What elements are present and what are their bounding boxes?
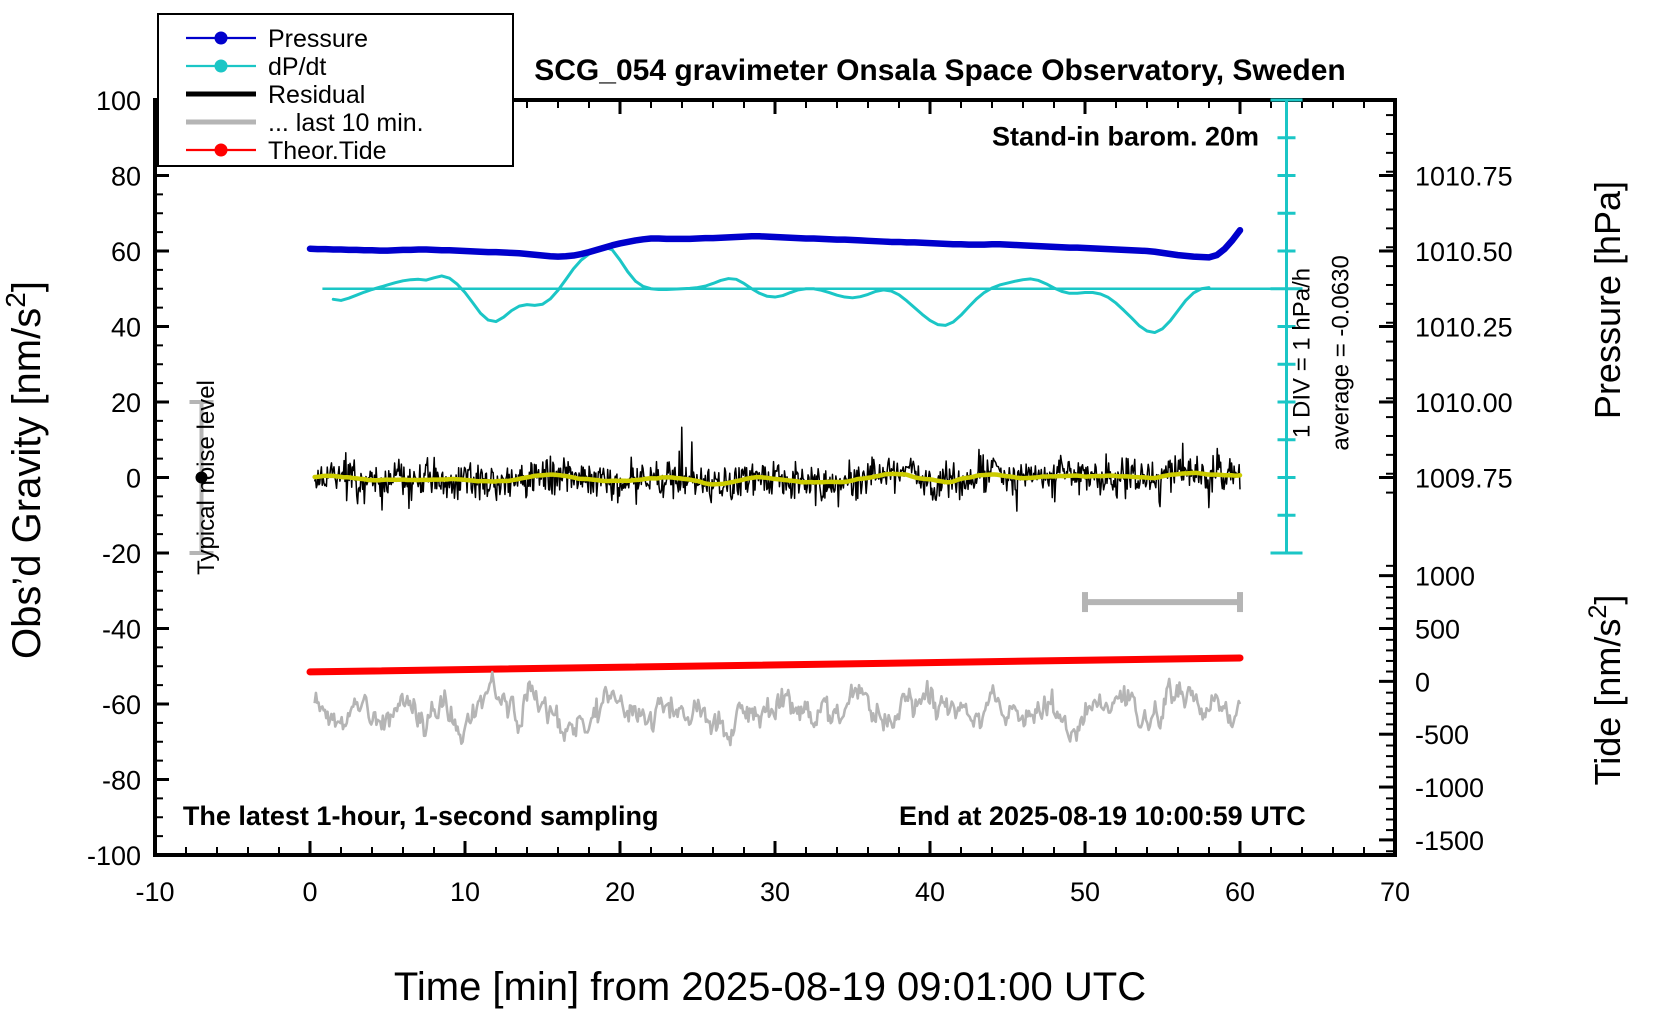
tide-tick-label: -1500: [1415, 826, 1484, 856]
y-tick-label: -80: [102, 766, 141, 796]
y-axis-title-tide: Tide [nm/s2]: [1584, 595, 1628, 786]
legend-swatch-marker: [215, 60, 228, 73]
x-tick-label: -10: [135, 877, 174, 907]
pressure-tick-label: 1010.25: [1415, 313, 1513, 343]
y-axis-title-pressure: Pressure [hPa]: [1587, 181, 1628, 419]
x-tick-label: 40: [915, 877, 945, 907]
x-tick-label: 70: [1380, 877, 1410, 907]
legend-item-label: ... last 10 min.: [268, 109, 424, 137]
y-tick-label: -60: [102, 690, 141, 720]
pressure-tick-label: 1010.00: [1415, 388, 1513, 418]
tide-tick-label: -1000: [1415, 773, 1484, 803]
y-tick-label: -100: [87, 841, 141, 871]
legend-swatch-marker: [215, 144, 228, 157]
annotation-typical-noise-level: Typical noise level: [193, 380, 220, 575]
legend-item-label: dP/dt: [268, 53, 326, 81]
x-tick-label: 30: [760, 877, 790, 907]
tide-tick-label: -500: [1415, 720, 1469, 750]
tide-tick-label: 500: [1415, 615, 1460, 645]
pressure-tick-label: 1010.75: [1415, 162, 1513, 192]
gravimeter-plot: -10010203040506070 -100-80-60-40-2002040…: [0, 0, 1660, 1020]
annotation-footer-left: The latest 1-hour, 1-second sampling: [183, 801, 659, 831]
x-tick-label: 10: [450, 877, 480, 907]
x-tick-label: 50: [1070, 877, 1100, 907]
x-tick-label: 0: [302, 877, 317, 907]
y-axis-title-gravity: Obs’d Gravity [nm/s2]: [0, 281, 49, 659]
y-tick-label: 60: [111, 237, 141, 267]
legend-item-label: Pressure: [268, 25, 368, 53]
annotation-stand-in-barom: Stand-in barom. 20m: [992, 121, 1259, 151]
annotation-dpdt-average: average = -0.0630: [1328, 255, 1355, 450]
tide-tick-label: 0: [1415, 667, 1430, 697]
pressure-tick-label: 1009.75: [1415, 464, 1513, 494]
y-tick-label: -20: [102, 539, 141, 569]
y-tick-label: 0: [126, 464, 141, 494]
x-tick-label: 20: [605, 877, 635, 907]
legend: PressuredP/dtResidual... last 10 min.The…: [158, 14, 513, 166]
x-axis-title: Time [min] from 2025-08-19 09:01:00 UTC: [394, 965, 1146, 1009]
x-tick-label: 60: [1225, 877, 1255, 907]
y-tick-label: 80: [111, 162, 141, 192]
annotation-dpdt-div: 1 DIV = 1 hPa/h: [1289, 268, 1316, 438]
chart-canvas: -10010203040506070 -100-80-60-40-2002040…: [0, 0, 1660, 1020]
legend-swatch-marker: [215, 32, 228, 45]
y-tick-label: 20: [111, 388, 141, 418]
page-title: SCG_054 gravimeter Onsala Space Observat…: [534, 54, 1346, 87]
pressure-tick-label: 1010.50: [1415, 237, 1513, 267]
annotation-footer-right: End at 2025-08-19 10:00:59 UTC: [899, 801, 1306, 831]
legend-item-label: Residual: [268, 81, 365, 109]
legend-item-label: Theor.Tide: [268, 137, 387, 165]
y-tick-label: 100: [96, 86, 141, 116]
tide-tick-label: 1000: [1415, 562, 1475, 592]
y-tick-label: -40: [102, 615, 141, 645]
y-tick-label: 40: [111, 313, 141, 343]
